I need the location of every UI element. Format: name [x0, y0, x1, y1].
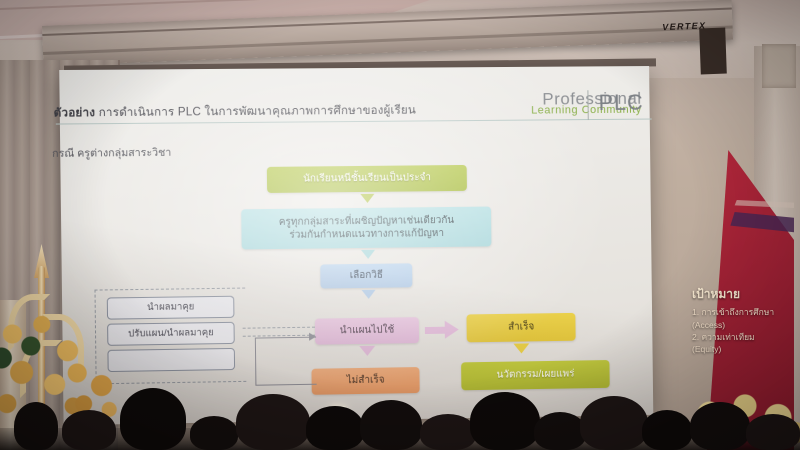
banner-item-0: 1. การเข้าถึงการศึกษา	[692, 307, 774, 317]
audience-head	[62, 410, 116, 450]
arrow-choose-to-implement	[362, 290, 376, 299]
wall-niche	[762, 44, 796, 88]
audience-head	[14, 402, 58, 450]
conference-room-photo: VERTEX ตัวอย่าง การดำเนินการ PLC ในการพั…	[0, 0, 800, 450]
arrow-success-to-innovation	[513, 343, 529, 353]
slide-title-rest: การดำเนินการ PLC ในการพัฒนาคุณภาพการศึกษ…	[99, 105, 416, 120]
slide-title-lead: ตัวอย่าง	[54, 107, 96, 119]
collaborate-line-2: ร่วมกันกำหนดแนวทางการแก้ปัญหา	[289, 227, 444, 242]
audience-head	[470, 392, 540, 450]
arrow-collaborate-to-choose	[361, 250, 375, 259]
dashed-connector-to-implement	[243, 327, 315, 329]
audience-head	[306, 406, 364, 450]
arrow-implement-to-success	[445, 321, 459, 339]
brand-plc-acronym: PLC	[598, 90, 643, 116]
audience-head	[534, 412, 586, 450]
audience-head	[580, 396, 648, 450]
flow-box-collaborate: ครูทุกกลุ่มสาระที่เผชิญปัญหาเช่นเดียวกัน…	[241, 207, 491, 250]
audience-head	[360, 400, 422, 450]
flow-box-success: สำเร็จ	[466, 313, 575, 342]
audience-silhouettes	[0, 360, 800, 450]
flow-box-choose-method: เลือกวิธี	[320, 263, 412, 288]
banner-item-3: (Equity)	[692, 344, 721, 354]
arrow-implement-to-fail	[359, 346, 375, 356]
audience-head	[746, 414, 800, 450]
banner-item-1: (Access)	[692, 320, 725, 330]
banner-heading: เป้าหมาย	[692, 286, 796, 303]
audience-head	[690, 402, 750, 450]
audience-head	[420, 414, 476, 450]
slide-subtitle: กรณี ครูต่างกลุ่มสาระวิชา	[52, 144, 171, 162]
arrow-success-stem	[425, 327, 445, 334]
audience-head	[642, 410, 692, 450]
audience-head	[236, 394, 310, 450]
feedback-loop-arrowhead	[309, 333, 316, 341]
banner-item-2: 2. ความเท่าเทียม	[692, 332, 755, 342]
banner-text-block: เป้าหมาย 1. การเข้าถึงการศึกษา (Access) …	[686, 286, 796, 356]
flow-box-problem: นักเรียนหนีชั้นเรียนเป็นประจำ	[267, 165, 467, 193]
audience-head	[190, 416, 238, 450]
slide-title: ตัวอย่าง การดำเนินการ PLC ในการพัฒนาคุณภ…	[54, 101, 486, 123]
arrow-problem-to-collaborate	[360, 194, 374, 203]
audience-head	[120, 388, 186, 450]
flow-box-implement: นำแผนไปใช้	[315, 317, 419, 345]
